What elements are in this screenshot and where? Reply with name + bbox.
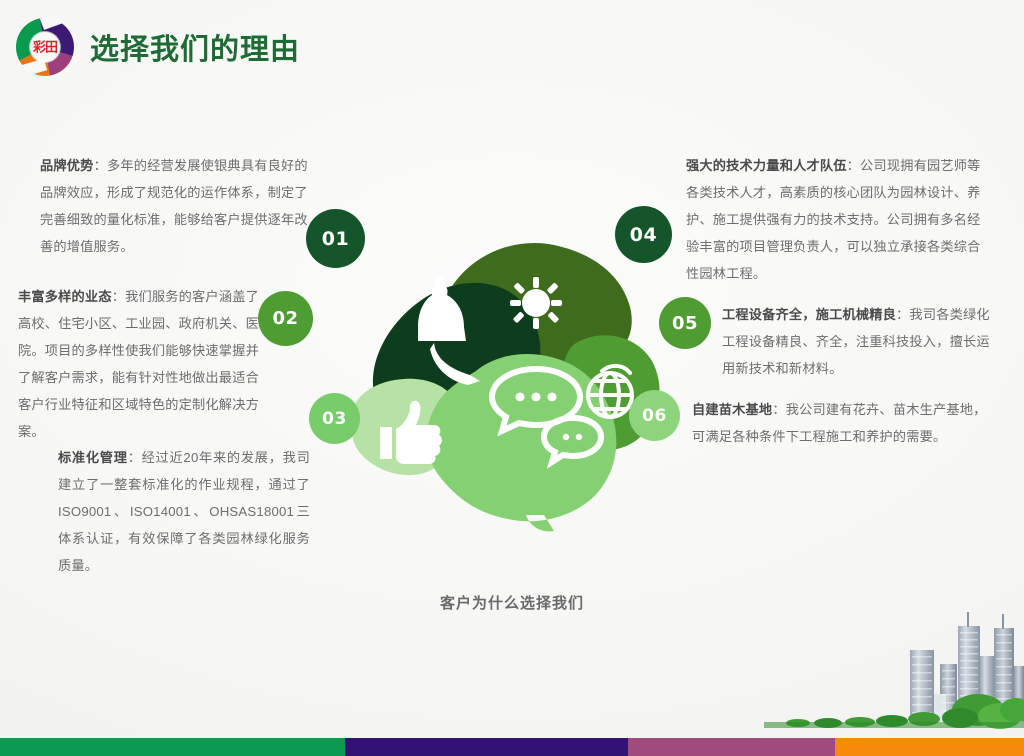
point-05-text: 工程设备齐全，施工机械精良：我司各类绿化工程设备精良、齐全，注重科技投入，擅长运…	[722, 301, 990, 382]
point-06-text: 自建苗木基地：我公司建有花卉、苗木生产基地，可满足各种条件下工程施工和养护的需要…	[692, 396, 992, 450]
treeline	[764, 694, 1024, 729]
bottom-color-bar	[0, 738, 1024, 756]
badge-06[interactable]: 06	[629, 390, 680, 441]
bar-segment-mauve	[628, 738, 835, 756]
slide-header: 彩田 选择我们的理由	[14, 16, 300, 78]
brain-diagram	[330, 215, 690, 535]
slide-root: 彩田 选择我们的理由 品牌优势：多年的经营发展使银典具有良好的品牌效应，形成了规…	[0, 0, 1024, 756]
city-skyline-graphic	[764, 606, 1024, 738]
logo-wordmark: 彩田	[33, 41, 57, 54]
point-01-heading: 品牌优势	[40, 158, 94, 173]
point-03-text: 标准化管理：经过近20年来的发展，我司建立了一整套标准化的作业规程，通过了ISO…	[58, 444, 310, 579]
point-05-heading: 工程设备齐全，施工机械精良	[722, 307, 896, 322]
point-02-body: ：我们服务的客户涵盖了高校、住宅小区、工业园、政府机关、医院。项目的多样性使我们…	[18, 289, 259, 439]
company-swirl-logo: 彩田	[14, 16, 76, 78]
point-06-heading: 自建苗木基地	[692, 402, 772, 417]
bar-segment-green	[0, 738, 345, 756]
page-title: 选择我们的理由	[90, 26, 300, 68]
bar-segment-orange	[835, 738, 1024, 756]
bar-segment-purple	[345, 738, 628, 756]
point-03-heading: 标准化管理	[58, 450, 128, 465]
point-03-body: ：经过近20年来的发展，我司建立了一整套标准化的作业规程，通过了ISO9001、…	[58, 450, 310, 573]
point-04-heading: 强大的技术力量和人才队伍	[686, 158, 847, 173]
badge-04[interactable]: 04	[615, 206, 672, 263]
sun-icon	[510, 277, 562, 329]
point-01-text: 品牌优势：多年的经营发展使银典具有良好的品牌效应，形成了规范化的运作体系，制定了…	[40, 152, 312, 260]
point-02-text: 丰富多样的业态：我们服务的客户涵盖了高校、住宅小区、工业园、政府机关、医院。项目…	[18, 283, 270, 445]
badge-03[interactable]: 03	[309, 393, 360, 444]
point-04-body: ：公司现拥有园艺师等各类技术人才，高素质的核心团队为园林设计、养护、施工提供强有…	[686, 158, 981, 281]
antenna	[967, 612, 969, 627]
antenna	[1002, 614, 1004, 629]
badge-02[interactable]: 02	[258, 291, 313, 346]
badge-05[interactable]: 05	[659, 297, 711, 349]
tower	[910, 650, 934, 722]
point-04-text: 强大的技术力量和人才队伍：公司现拥有园艺师等各类技术人才，高素质的核心团队为园林…	[686, 152, 990, 287]
point-02-heading: 丰富多样的业态	[18, 289, 112, 304]
badge-01[interactable]: 01	[306, 209, 365, 268]
